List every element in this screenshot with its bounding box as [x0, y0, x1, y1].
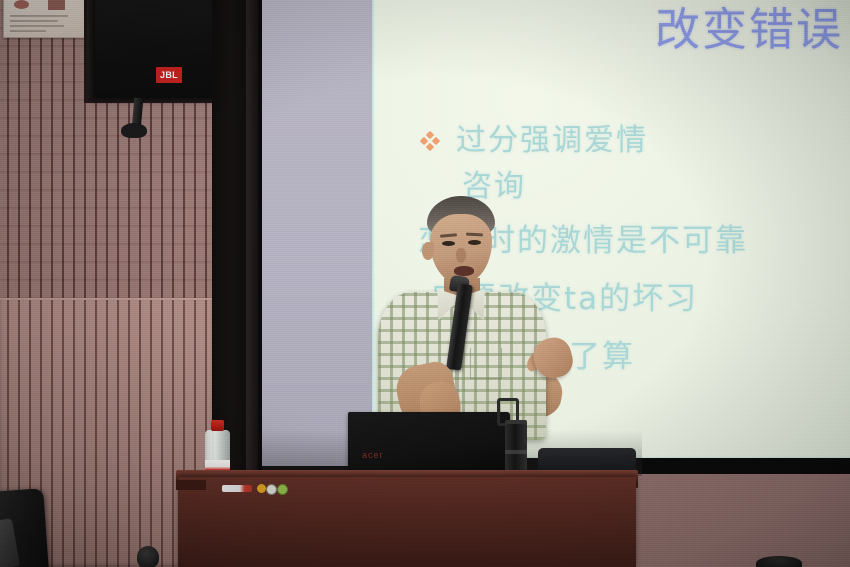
poster-text-line: [10, 20, 58, 22]
jbl-speaker-box: JBL: [90, 0, 215, 98]
podium-side-ledge: [176, 480, 206, 490]
wall-poster: [3, 0, 85, 38]
acer-logo: acer: [362, 450, 384, 460]
bullet-diamond-icon: [421, 132, 439, 150]
jbl-logo: JBL: [156, 67, 182, 83]
badge-green: [277, 484, 288, 495]
poster-shape-1: [14, 0, 29, 9]
poster-text-line: [10, 15, 68, 17]
presenter-eye-left: [442, 241, 455, 246]
poster-text-line: [10, 25, 64, 27]
mic-stand-base: [137, 546, 159, 567]
acer-laptop: acer: [348, 412, 510, 478]
floor-object: [756, 556, 802, 567]
poster-text-line: [10, 30, 46, 32]
thermos-band: [505, 450, 527, 454]
photo-scene: JBL 改变错误 过分强调爱情 咨询 恋爱时的激情是不可靠 定要改变ta的坏习 …: [0, 0, 850, 567]
presenter-ear: [422, 242, 434, 260]
shirt-pocket: [470, 348, 502, 379]
presenter-mouth: [454, 266, 474, 276]
marker-pen: [222, 485, 252, 492]
slide-title: 改变错误: [655, 6, 843, 53]
presenter-eye-right: [468, 240, 481, 245]
speaker-mount-foot: [121, 123, 147, 138]
poster-shape-2: [48, 0, 65, 10]
presenter: [352, 196, 592, 436]
slide-line-1: 过分强调爱情: [456, 124, 648, 157]
badge-gold: [257, 484, 266, 493]
bottle-cap: [211, 420, 224, 431]
badge-silver: [266, 484, 277, 495]
presenter-nose: [456, 248, 466, 263]
